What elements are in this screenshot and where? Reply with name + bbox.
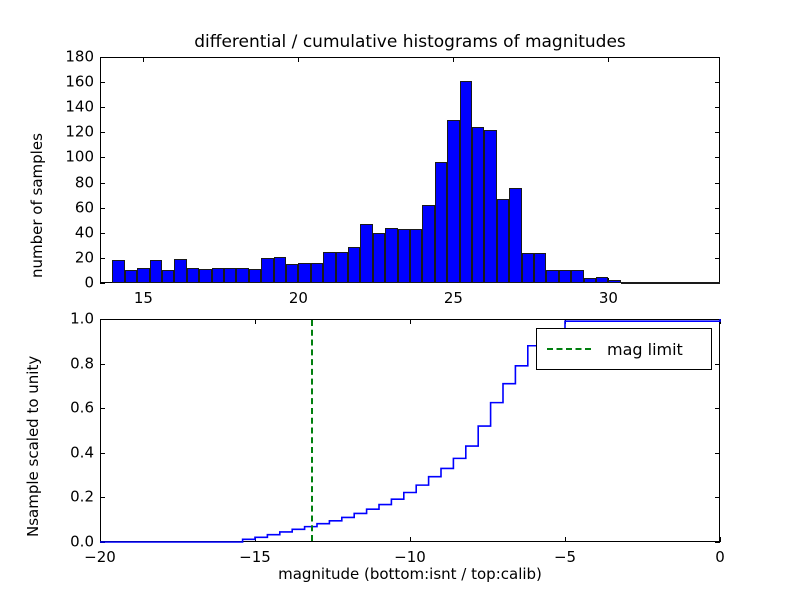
- legend-box[interactable]: mag limit: [536, 328, 712, 370]
- figure-canvas: differential / cumulative histograms of …: [0, 0, 800, 600]
- mag-limit-vline: [311, 320, 313, 541]
- cumulative-step-line: [0, 0, 800, 600]
- legend-label-mag-limit: mag limit: [607, 340, 683, 359]
- legend-dashed-line-icon: [547, 348, 591, 350]
